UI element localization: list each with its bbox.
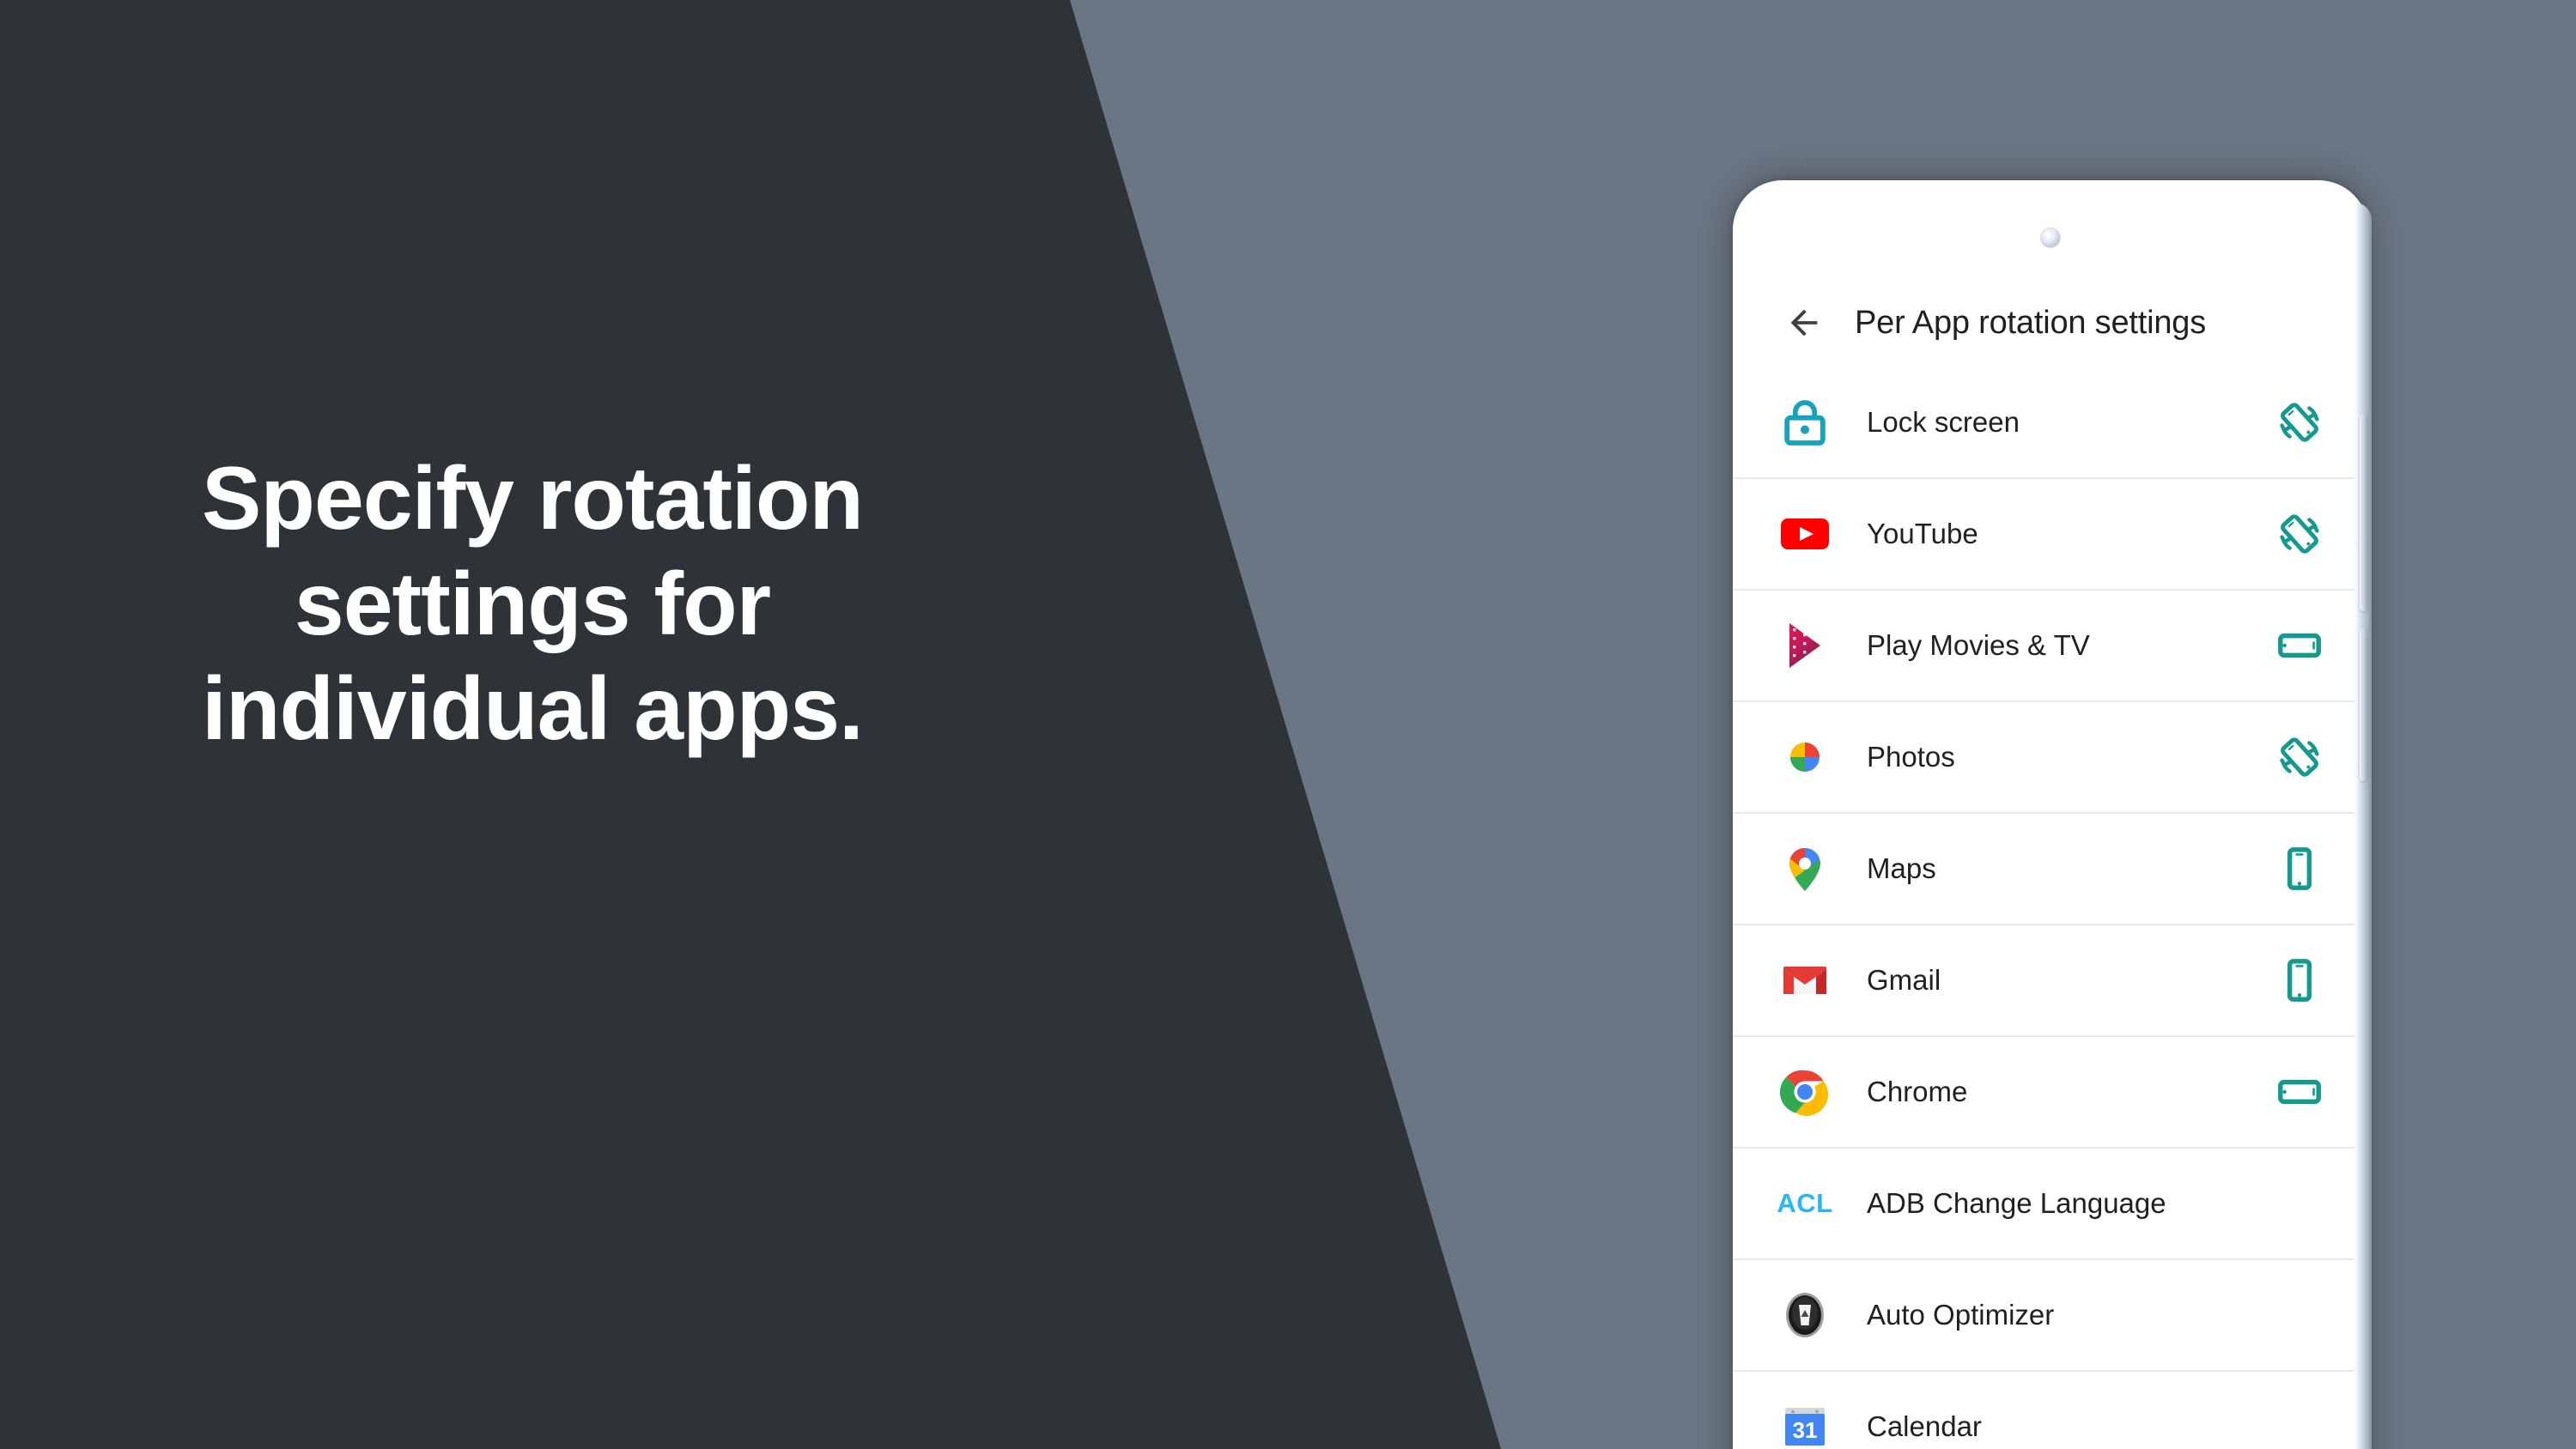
page-title: Per App rotation settings <box>1855 305 2206 342</box>
calendar-icon: 31 <box>1774 1396 1836 1449</box>
list-item[interactable]: Gmail <box>1733 925 2368 1037</box>
portrait-icon[interactable] <box>2267 948 2332 1013</box>
headline-line-2: settings for <box>52 552 1013 658</box>
page-headline: Specify rotation settings for individual… <box>52 446 1013 762</box>
auto-rotate-icon[interactable] <box>2267 390 2332 455</box>
youtube-icon <box>1774 503 1836 565</box>
list-item-label: Lock screen <box>1867 406 2267 439</box>
landscape-icon[interactable] <box>2267 613 2332 678</box>
list-item-label: Calendar <box>1867 1410 2267 1443</box>
list-item-label: Maps <box>1867 852 2267 885</box>
google-maps-icon <box>1774 838 1836 900</box>
list-item-label: Photos <box>1867 741 2267 773</box>
list-item[interactable]: YouTube <box>1733 479 2368 591</box>
lock-icon <box>1774 391 1836 453</box>
phone-device-mockup: Per App rotation settings Lock screen <box>1733 180 2368 1449</box>
auto-rotate-icon[interactable] <box>2267 501 2332 567</box>
acl-icon-label: ACL <box>1777 1188 1832 1219</box>
chrome-icon <box>1774 1061 1836 1123</box>
volume-button[interactable] <box>2360 414 2367 611</box>
auto-optimizer-icon <box>1774 1284 1836 1346</box>
front-camera-icon <box>2040 227 2061 248</box>
google-photos-icon <box>1774 726 1836 788</box>
list-item[interactable]: 31 Calendar <box>1733 1372 2368 1449</box>
list-item-label: YouTube <box>1867 518 2267 550</box>
landscape-icon[interactable] <box>2267 1059 2332 1125</box>
gmail-icon <box>1774 949 1836 1011</box>
list-item[interactable]: Photos <box>1733 702 2368 814</box>
app-rotation-list[interactable]: Lock screen <box>1733 367 2368 1449</box>
acl-icon: ACL <box>1774 1173 1836 1234</box>
list-item-label: Chrome <box>1867 1076 2267 1108</box>
power-button[interactable] <box>2360 628 2367 781</box>
list-item-label: Gmail <box>1867 964 2267 997</box>
list-item[interactable]: ACL ADB Change Language <box>1733 1149 2368 1260</box>
headline-line-1: Specify rotation <box>52 446 1013 552</box>
list-item-label: ADB Change Language <box>1867 1187 2267 1220</box>
play-movies-icon <box>1774 615 1836 676</box>
list-item[interactable]: Chrome <box>1733 1037 2368 1149</box>
list-item-label: Play Movies & TV <box>1867 629 2267 662</box>
list-item[interactable]: Lock screen <box>1733 367 2368 479</box>
portrait-icon[interactable] <box>2267 836 2332 901</box>
headline-line-3: individual apps. <box>52 657 1013 762</box>
auto-rotate-icon[interactable] <box>2267 724 2332 790</box>
list-item[interactable]: Auto Optimizer <box>1733 1260 2368 1372</box>
app-bar: Per App rotation settings <box>1733 282 2368 364</box>
list-item[interactable]: Maps <box>1733 814 2368 925</box>
phone-right-bezel <box>2354 203 2372 1449</box>
svg-text:31: 31 <box>1793 1417 1818 1443</box>
list-item-label: Auto Optimizer <box>1867 1299 2267 1331</box>
back-arrow-icon[interactable] <box>1784 303 1824 343</box>
phone-screen: Per App rotation settings Lock screen <box>1733 180 2368 1449</box>
list-item[interactable]: Play Movies & TV <box>1733 591 2368 702</box>
